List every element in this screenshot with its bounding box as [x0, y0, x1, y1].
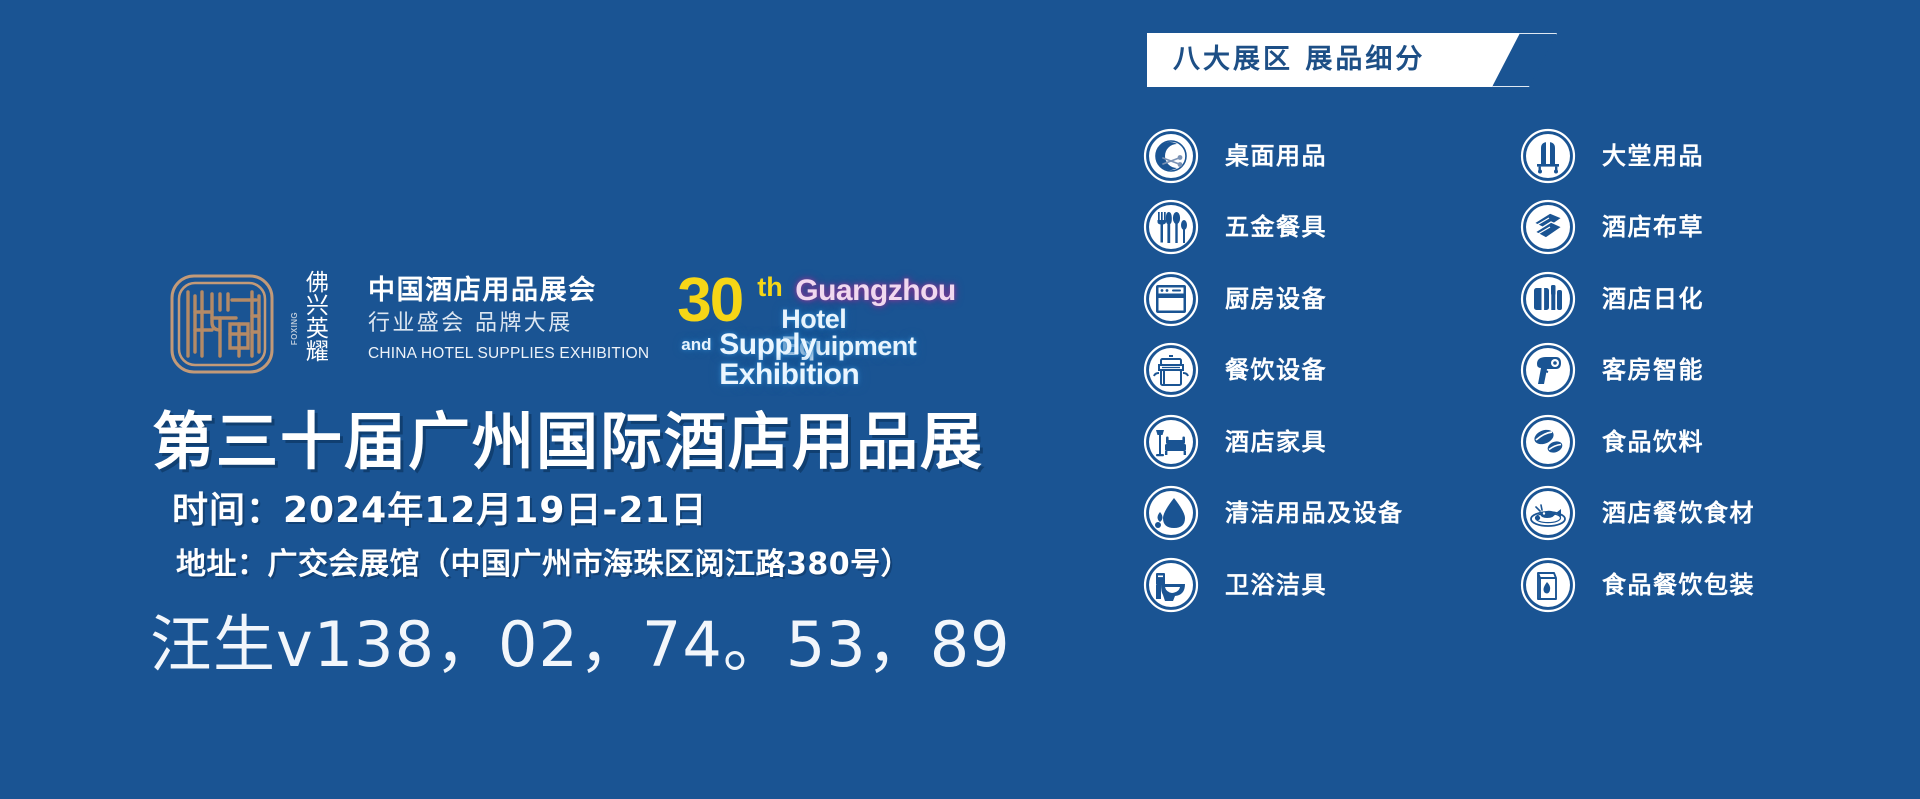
- coffee-beans-icon: [1520, 414, 1576, 470]
- page-title: 第三十届广州国际酒店用品展: [152, 408, 984, 476]
- zones-grid: 桌面用品 大堂用品: [1120, 120, 1920, 621]
- folded-linens-icon: [1520, 199, 1576, 255]
- seal-chinese-vertical: 佛兴英耀: [302, 270, 326, 362]
- fork-knife-spoon-icon: [1143, 199, 1199, 255]
- zone-label: 酒店家具: [1225, 429, 1327, 455]
- zone-item-linens[interactable]: 酒店布草: [1480, 192, 1840, 264]
- event-address-line: 地址：广交会展馆（中国广州市海珠区阅江路380号）: [176, 548, 911, 583]
- anniversary-number: 30: [677, 270, 742, 332]
- zone-item-catering-equipment[interactable]: 餐饮设备: [1120, 335, 1480, 407]
- zone-label: 桌面用品: [1225, 143, 1327, 169]
- anniversary-suffix: th: [757, 274, 782, 301]
- zone-label: 卫浴洁具: [1225, 572, 1327, 598]
- zone-item-hardware-tableware[interactable]: 五金餐具: [1120, 192, 1480, 264]
- zone-item-food-packaging[interactable]: 食品餐饮包装: [1480, 549, 1840, 621]
- zones-panel-header: 八大展区 展品细分: [1147, 33, 1557, 87]
- seal-pinyin-vertical: FOXING: [290, 312, 299, 345]
- organizer-title-en: CHINA HOTEL SUPPLIES EXHIBITION: [368, 344, 649, 364]
- seal-side-text: 佛兴英耀 FOXING: [290, 272, 330, 376]
- foxing-yingyao-seal-icon: [168, 272, 276, 376]
- zone-label: 食品饮料: [1602, 429, 1704, 455]
- luggage-cart-icon: [1520, 128, 1576, 184]
- zone-label: 酒店日化: [1602, 286, 1704, 312]
- promotional-banner: 佛兴英耀 FOXING 中国酒店用品展会 行业盛会 品牌大展 CHINA HOT…: [0, 0, 1920, 799]
- organizer-subtitle-cn: 行业盛会 品牌大展: [368, 309, 649, 339]
- organizer-title-cn: 中国酒店用品展会: [368, 275, 649, 307]
- anniversary-line3: Supply Exhibition: [719, 330, 947, 390]
- left-content-block: 佛兴英耀 FOXING 中国酒店用品展会 行业盛会 品牌大展 CHINA HOT…: [0, 0, 1120, 799]
- zone-item-food-beverage[interactable]: 食品饮料: [1480, 406, 1840, 478]
- zone-label: 食品餐饮包装: [1602, 572, 1755, 598]
- zones-panel: 八大展区 展品细分: [1120, 0, 1920, 799]
- water-drop-icon: [1143, 485, 1199, 541]
- zone-item-kitchen-equipment[interactable]: 厨房设备: [1120, 263, 1480, 335]
- toiletries-dispenser-icon: [1520, 271, 1576, 327]
- zone-label: 酒店餐饮食材: [1602, 500, 1755, 526]
- zone-label: 五金餐具: [1225, 214, 1327, 240]
- zone-item-hotel-furniture[interactable]: 酒店家具: [1120, 406, 1480, 478]
- zone-label: 大堂用品: [1602, 143, 1704, 169]
- zone-label: 客房智能: [1602, 357, 1704, 383]
- toilet-icon: [1143, 557, 1199, 613]
- sofa-lamp-icon: [1143, 414, 1199, 470]
- anniversary-city: Guangzhou: [795, 276, 955, 306]
- packaging-bag-icon: [1520, 557, 1576, 613]
- zone-item-lobby[interactable]: 大堂用品: [1480, 120, 1840, 192]
- organizer-title-block: 中国酒店用品展会 行业盛会 品牌大展 CHINA HOTEL SUPPLIES …: [368, 272, 649, 364]
- steamer-pot-icon: [1143, 342, 1199, 398]
- zone-item-catering-ingredients[interactable]: 酒店餐饮食材: [1480, 478, 1840, 550]
- zones-panel-title: 八大展区 展品细分: [1173, 42, 1425, 78]
- zone-item-cleaning[interactable]: 清洁用品及设备: [1120, 478, 1480, 550]
- fish-plate-icon: [1520, 485, 1576, 541]
- anniversary-and: and: [681, 336, 711, 353]
- zone-item-tabletop[interactable]: 桌面用品: [1120, 120, 1480, 192]
- anniversary-logo: 30 th Guangzhou Hotel Equipment and Supp…: [677, 272, 947, 372]
- contact-line: 汪生v138，02，74。53，89: [150, 608, 1011, 682]
- brand-logo-row: 佛兴英耀 FOXING 中国酒店用品展会 行业盛会 品牌大展 CHINA HOT…: [168, 272, 947, 376]
- oven-icon: [1143, 271, 1199, 327]
- zone-item-bathroom[interactable]: 卫浴洁具: [1120, 549, 1480, 621]
- plate-cutlery-icon: [1143, 128, 1199, 184]
- zone-label: 酒店布草: [1602, 214, 1704, 240]
- zone-label: 厨房设备: [1225, 286, 1327, 312]
- zone-label: 清洁用品及设备: [1225, 500, 1404, 526]
- event-date-line: 时间：2024年12月19日-21日: [172, 490, 707, 531]
- zone-item-smart-guestroom[interactable]: 客房智能: [1480, 335, 1840, 407]
- zone-item-toiletries[interactable]: 酒店日化: [1480, 263, 1840, 335]
- hair-dryer-icon: [1520, 342, 1576, 398]
- zone-label: 餐饮设备: [1225, 357, 1327, 383]
